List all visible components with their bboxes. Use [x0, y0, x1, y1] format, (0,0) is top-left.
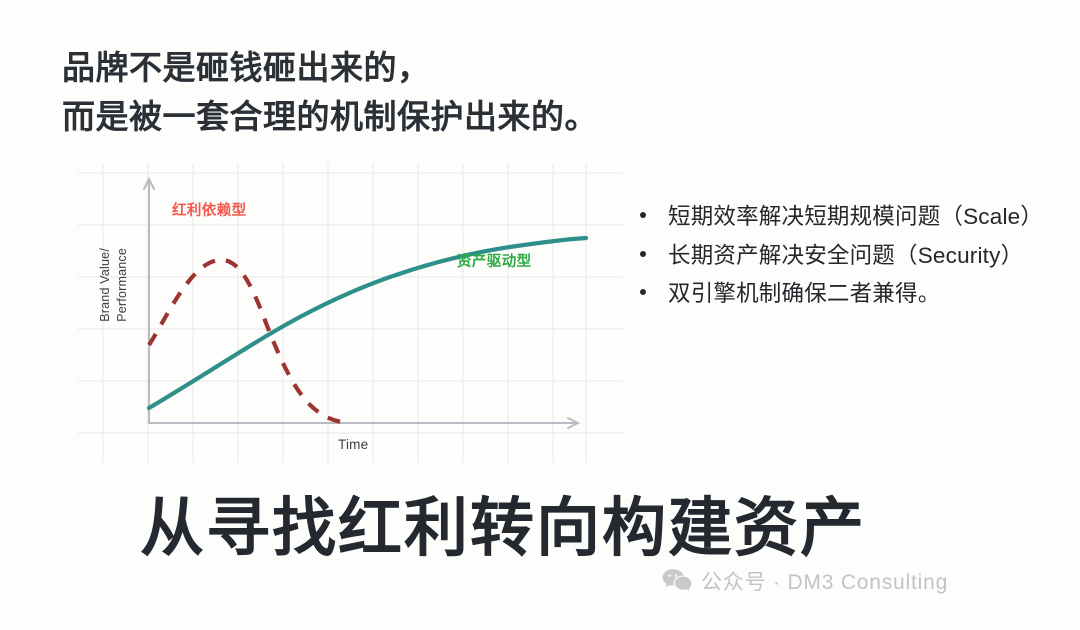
series-line-dividend-dependent: [149, 260, 350, 423]
list-item: 短期效率解决短期规模问题（Scale）: [634, 199, 1034, 235]
chart-gridlines: [78, 163, 623, 463]
headline-line-2: 而是被一套合理的机制保护出来的。: [62, 93, 822, 142]
bullet-dot-icon: [640, 289, 646, 295]
list-item-text: 短期效率解决短期规模问题（Scale）: [668, 204, 1043, 229]
chart-x-axis-label: Time: [338, 437, 368, 452]
list-item: 双引擎机制确保二者兼得。: [634, 276, 1034, 312]
headline-line-1: 品牌不是砸钱砸出来的，: [62, 44, 822, 93]
chart-svg: [78, 163, 623, 463]
bullet-dot-icon: [640, 212, 646, 218]
footer-text: 公众号 · DM3 Consulting: [701, 566, 948, 596]
footer-watermark: 公众号 · DM3 Consulting: [662, 566, 948, 596]
chart-figure: [78, 163, 623, 463]
series-label-asset-driven: 资产驱动型: [457, 250, 532, 271]
page-title: 品牌不是砸钱砸出来的， 而是被一套合理的机制保护出来的。: [62, 44, 822, 142]
y-axis-label-line-2: Performance: [115, 248, 129, 322]
bottom-headline: 从寻找红利转向构建资产: [140, 496, 866, 560]
slide-root: 品牌不是砸钱砸出来的， 而是被一套合理的机制保护出来的。: [0, 0, 1080, 630]
bullet-list: 短期效率解决短期规模问题（Scale） 长期资产解决安全问题（Security）…: [634, 199, 1034, 315]
list-item: 长期资产解决安全问题（Security）: [634, 238, 1034, 274]
series-label-dividend-dependent: 红利依赖型: [172, 199, 247, 220]
wechat-icon: [662, 568, 692, 594]
list-item-text: 双引擎机制确保二者兼得。: [668, 281, 940, 306]
bullet-dot-icon: [640, 251, 646, 257]
list-item-text: 长期资产解决安全问题（Security）: [668, 243, 1023, 268]
y-axis-label-line-1: Brand Value/: [98, 248, 112, 322]
chart-y-axis-label: Brand Value/ Performance: [84, 248, 108, 388]
